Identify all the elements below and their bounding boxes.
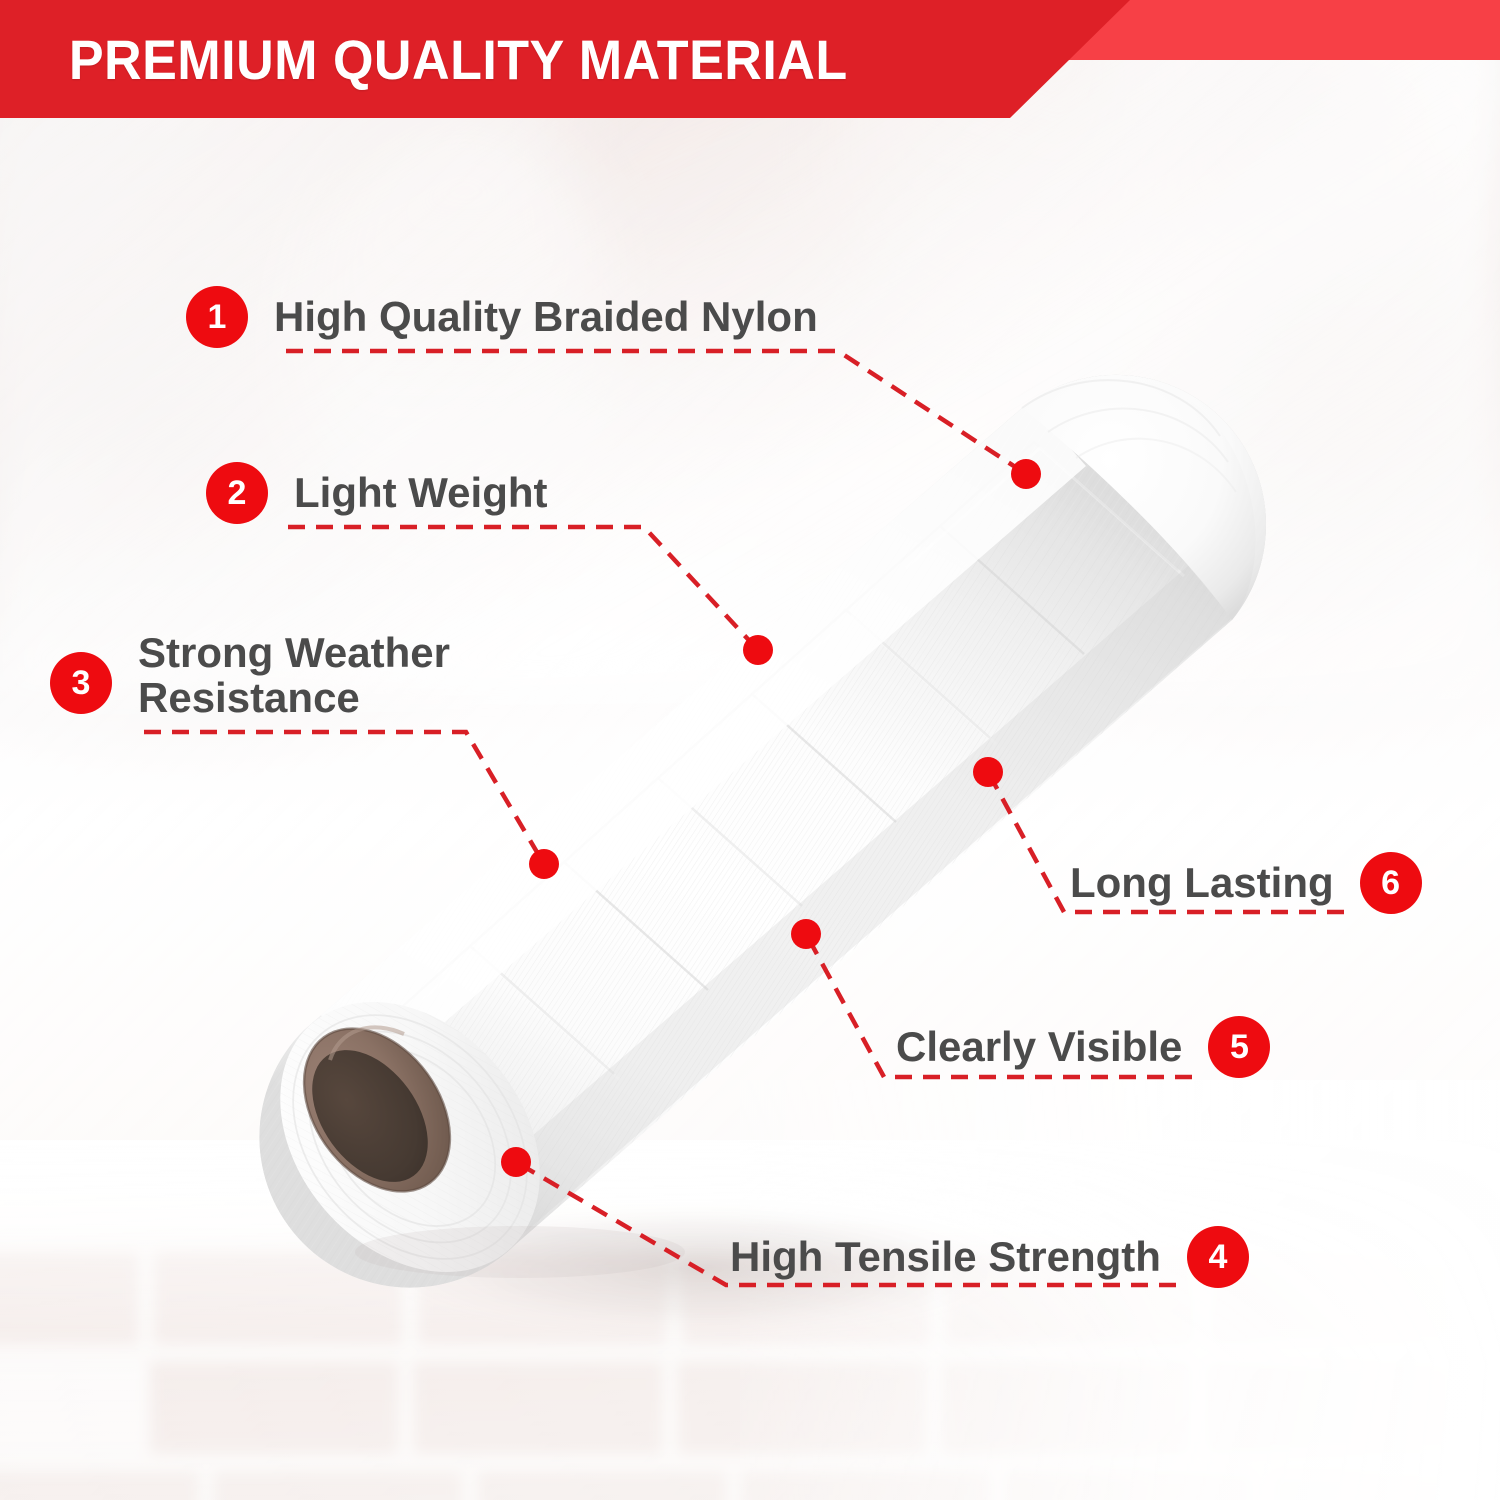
callout-label-5: Clearly Visible: [896, 1024, 1182, 1069]
callout-badge-number: 1: [208, 300, 227, 334]
callout-badge-number: 2: [228, 476, 247, 510]
callout-badge-number: 6: [1381, 866, 1400, 900]
callout-5: Clearly Visible5: [896, 1016, 1270, 1078]
callout-label-2: Light Weight: [294, 470, 548, 515]
header-banner: PREMIUM QUALITY MATERIAL: [0, 0, 1500, 130]
banner-main-block: PREMIUM QUALITY MATERIAL: [0, 0, 1130, 118]
callout-label-4: High Tensile Strength: [730, 1234, 1161, 1279]
callout-badge-1[interactable]: 1: [186, 286, 248, 348]
callout-6: Long Lasting6: [1070, 852, 1422, 914]
callout-badge-3[interactable]: 3: [50, 652, 112, 714]
infographic-canvas: PREMIUM QUALITY MATERIAL 1High Quality B…: [0, 0, 1500, 1500]
callout-badge-number: 3: [72, 666, 91, 700]
callout-badge-number: 4: [1208, 1240, 1227, 1274]
callout-badge-number: 5: [1230, 1030, 1249, 1064]
callout-badge-5[interactable]: 5: [1208, 1016, 1270, 1078]
callout-2: 2Light Weight: [206, 462, 548, 524]
callout-3: 3Strong Weather Resistance: [50, 630, 450, 721]
callout-badge-4[interactable]: 4: [1187, 1226, 1249, 1288]
callout-4: High Tensile Strength4: [730, 1226, 1249, 1288]
callout-badge-6[interactable]: 6: [1360, 852, 1422, 914]
callout-label-1: High Quality Braided Nylon: [274, 294, 818, 339]
callout-label-3: Strong Weather Resistance: [138, 630, 450, 721]
callout-1: 1High Quality Braided Nylon: [186, 286, 818, 348]
callout-label-6: Long Lasting: [1070, 860, 1334, 905]
callout-badge-2[interactable]: 2: [206, 462, 268, 524]
banner-title: PREMIUM QUALITY MATERIAL: [0, 27, 848, 92]
